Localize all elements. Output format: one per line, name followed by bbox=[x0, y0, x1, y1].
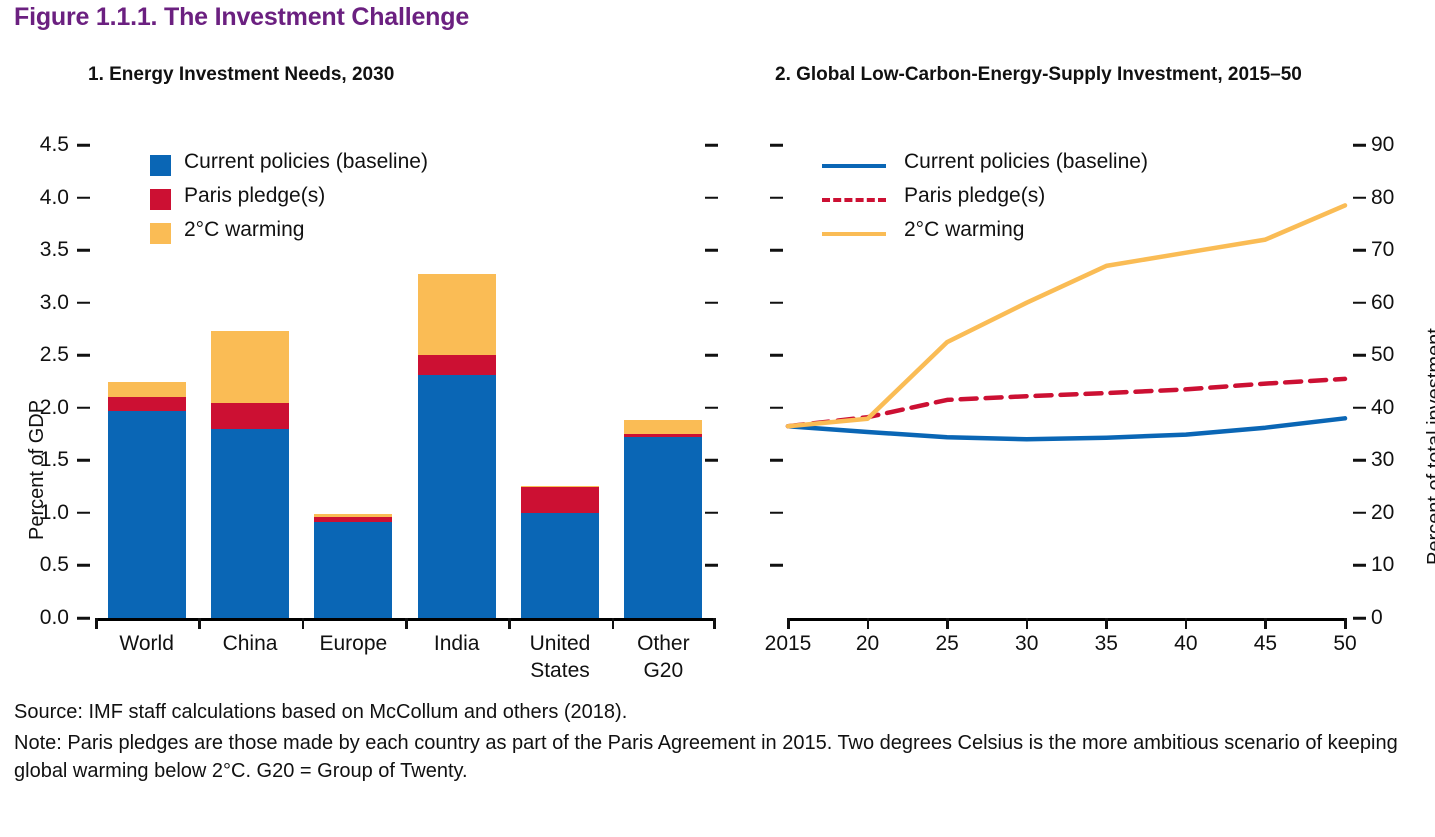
panel2-y-tick bbox=[1353, 249, 1366, 252]
panel2-y-tick-label: 0 bbox=[1371, 606, 1431, 630]
panel1-y-tick bbox=[77, 249, 90, 252]
panel2-y-tick-label: 90 bbox=[1371, 133, 1431, 157]
panel2-x-tick-label: 50 bbox=[1285, 630, 1405, 657]
bar-china[interactable] bbox=[211, 331, 289, 618]
panel1-x-tick bbox=[405, 618, 408, 629]
panel2-x-tick bbox=[1026, 618, 1029, 629]
legend-line-icon bbox=[822, 232, 886, 236]
panel2-x-tick bbox=[787, 618, 790, 629]
panel2-y-tick bbox=[1353, 196, 1366, 199]
panel1-y-tick-mirror bbox=[705, 512, 718, 515]
panel2-y-tick-label: 10 bbox=[1371, 553, 1431, 577]
panel1-y-tick-mirror bbox=[705, 144, 718, 147]
panel2-y-tick-mirror bbox=[770, 301, 783, 304]
panel2-y-tick bbox=[1353, 617, 1366, 620]
panel1-title: 1. Energy Investment Needs, 2030 bbox=[88, 62, 394, 87]
figure-title: Figure 1.1.1. The Investment Challenge bbox=[14, 3, 469, 32]
legend-label: Paris pledge(s) bbox=[904, 184, 1045, 208]
panel2-y-tick-mirror bbox=[770, 459, 783, 462]
bar-segment-baseline bbox=[108, 411, 186, 618]
panel1-y-tick-label: 2.0 bbox=[13, 396, 69, 420]
panel1-y-tick bbox=[77, 459, 90, 462]
panel1-y-tick-mirror bbox=[705, 459, 718, 462]
panel2-y-tick-label: 70 bbox=[1371, 238, 1431, 262]
panel2-y-tick-label: 30 bbox=[1371, 448, 1431, 472]
panel1-category-label: OtherG20 bbox=[603, 630, 723, 684]
bar-other-g20[interactable] bbox=[624, 420, 702, 618]
source-note: Source: IMF staff calculations based on … bbox=[14, 698, 1424, 726]
bar-segment-warming bbox=[418, 274, 496, 355]
legend-label: Current policies (baseline) bbox=[904, 150, 1148, 174]
panel1-y-tick-label: 1.5 bbox=[13, 448, 69, 472]
series-line-paris-pledge-s bbox=[788, 379, 1345, 426]
panel1-category-label: UnitedStates bbox=[500, 630, 620, 684]
panel1-y-tick bbox=[77, 512, 90, 515]
legend-line-icon bbox=[822, 164, 886, 168]
bar-segment-baseline bbox=[624, 437, 702, 618]
panel1-y-tick bbox=[77, 144, 90, 147]
panel1-y-tick-label: 0.0 bbox=[13, 606, 69, 630]
panel2-y-tick-mirror bbox=[770, 512, 783, 515]
panel2-x-tick bbox=[1185, 618, 1188, 629]
bar-segment-baseline bbox=[521, 513, 599, 618]
series-line-2-c-warming bbox=[788, 205, 1345, 426]
bar-india[interactable] bbox=[418, 274, 496, 618]
panel1-y-tick bbox=[77, 354, 90, 357]
panel2-x-tick bbox=[867, 618, 870, 629]
panel1-category-label: India bbox=[397, 630, 517, 657]
panel2-y-tick-mirror bbox=[770, 354, 783, 357]
bar-europe[interactable] bbox=[314, 514, 392, 618]
panel2-x-tick bbox=[1264, 618, 1267, 629]
legend-label: 2°C warming bbox=[904, 218, 1024, 242]
panel1-x-tick bbox=[198, 618, 201, 629]
panel1-y-tick-mirror bbox=[705, 354, 718, 357]
panel1-y-tick-mirror bbox=[705, 564, 718, 567]
legend-swatch-icon bbox=[150, 155, 171, 176]
panel2-y-tick-mirror bbox=[770, 564, 783, 567]
panel2-y-tick bbox=[1353, 144, 1366, 147]
panel2-y-tick bbox=[1353, 354, 1366, 357]
panel1-category-label: World bbox=[87, 630, 207, 657]
panel2-x-tick bbox=[1105, 618, 1108, 629]
panel1-y-tick-mirror bbox=[705, 301, 718, 304]
panel1-y-tick-label: 4.0 bbox=[13, 186, 69, 210]
panel1-y-tick bbox=[77, 617, 90, 620]
bar-segment-baseline bbox=[211, 429, 289, 618]
panel1-y-tick bbox=[77, 196, 90, 199]
panel1-y-tick-label: 3.0 bbox=[13, 291, 69, 315]
panel1-x-tick bbox=[508, 618, 511, 629]
bar-segment-paris bbox=[521, 487, 599, 513]
bar-chart-panel bbox=[95, 145, 715, 618]
panel2-y-tick bbox=[1353, 459, 1366, 462]
panel1-y-tick bbox=[77, 301, 90, 304]
bar-segment-baseline bbox=[418, 375, 496, 618]
bar-segment-warming bbox=[211, 331, 289, 402]
panel2-y-tick bbox=[1353, 512, 1366, 515]
panel2-y-tick bbox=[1353, 407, 1366, 410]
legend-label: 2°C warming bbox=[184, 218, 304, 242]
panel1-y-tick-label: 4.5 bbox=[13, 133, 69, 157]
panel2-y-tick-mirror bbox=[770, 144, 783, 147]
panel2-y-tick-label: 50 bbox=[1371, 343, 1431, 367]
bar-world[interactable] bbox=[108, 382, 186, 619]
panel1-y-tick bbox=[77, 407, 90, 410]
bar-segment-warming bbox=[108, 382, 186, 398]
legend-label: Current policies (baseline) bbox=[184, 150, 428, 174]
panel1-category-label: China bbox=[190, 630, 310, 657]
panel2-y-tick-mirror bbox=[770, 249, 783, 252]
panel2-y-tick-label: 80 bbox=[1371, 186, 1431, 210]
panel2-x-tick bbox=[1344, 618, 1347, 629]
panel1-y-tick-label: 0.5 bbox=[13, 553, 69, 577]
panel1-y-tick-label: 2.5 bbox=[13, 343, 69, 367]
panel1-x-tick bbox=[302, 618, 305, 629]
panel2-y-tick-label: 20 bbox=[1371, 501, 1431, 525]
explanatory-note: Note: Paris pledges are those made by ea… bbox=[14, 729, 1424, 785]
legend-line-icon bbox=[822, 198, 886, 202]
panel1-category-label: Europe bbox=[293, 630, 413, 657]
panel2-y-tick-mirror bbox=[770, 196, 783, 199]
bar-segment-baseline bbox=[314, 522, 392, 618]
panel1-y-tick-label: 1.0 bbox=[13, 501, 69, 525]
panel2-x-axis bbox=[788, 618, 1345, 621]
panel2-y-tick-label: 40 bbox=[1371, 396, 1431, 420]
panel1-x-tick bbox=[612, 618, 615, 629]
panel1-x-tick bbox=[95, 618, 98, 629]
panel1-x-tick bbox=[713, 618, 716, 629]
legend-swatch-icon bbox=[150, 223, 171, 244]
bar-segment-paris bbox=[418, 355, 496, 375]
bar-united-states[interactable] bbox=[521, 486, 599, 618]
panel2-y-tick-mirror bbox=[770, 407, 783, 410]
panel1-y-tick bbox=[77, 564, 90, 567]
panel1-y-tick-label: 3.5 bbox=[13, 238, 69, 262]
panel1-y-tick-mirror bbox=[705, 196, 718, 199]
legend-swatch-icon bbox=[150, 189, 171, 210]
legend-label: Paris pledge(s) bbox=[184, 184, 325, 208]
bar-segment-paris bbox=[108, 397, 186, 411]
panel2-y-tick bbox=[1353, 564, 1366, 567]
panel2-x-tick bbox=[946, 618, 949, 629]
panel2-title: 2. Global Low-Carbon-Energy-Supply Inves… bbox=[775, 62, 1415, 87]
series-line-current-policies-baseline bbox=[788, 418, 1345, 439]
bar-segment-warming bbox=[624, 420, 702, 434]
panel1-y-tick-mirror bbox=[705, 407, 718, 410]
panel1-y-tick-mirror bbox=[705, 249, 718, 252]
panel2-y-tick-label: 60 bbox=[1371, 291, 1431, 315]
bar-segment-paris bbox=[211, 403, 289, 429]
panel2-y-tick bbox=[1353, 301, 1366, 304]
